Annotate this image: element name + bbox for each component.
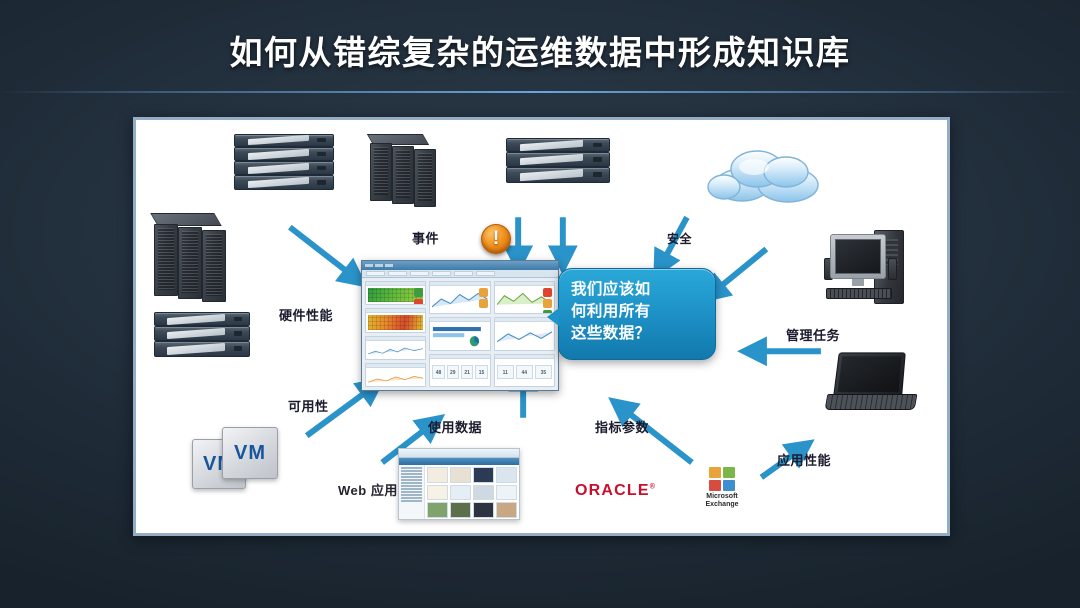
webapp-browser-chrome xyxy=(399,449,519,458)
exchange-logo-tiles xyxy=(709,467,735,491)
label-application-performance: 应用性能 xyxy=(777,450,831,469)
oracle-registered-mark: ® xyxy=(650,484,656,491)
speech-line-2: 何利用所有 xyxy=(571,301,705,323)
dashboard-titlebar xyxy=(362,261,558,270)
dashboard-card-area-chart xyxy=(429,281,490,314)
label-web-application: Web 应用 xyxy=(338,480,398,499)
webapp-content xyxy=(399,465,519,520)
network-switch-stack-left-lower xyxy=(154,312,250,358)
cloud-icon xyxy=(702,145,828,207)
webapp-sidebar xyxy=(399,465,425,520)
diagram-stage: ! xyxy=(136,120,947,533)
title-divider xyxy=(0,91,1080,93)
dashboard-card-heatmap xyxy=(365,281,426,305)
dashboard-card-dual-spark xyxy=(494,317,555,350)
microsoft-exchange-logo: Microsoft Exchange xyxy=(690,467,754,509)
oracle-logo: ORACLE® xyxy=(575,482,656,500)
label-hardware-performance: 硬件性能 xyxy=(279,305,333,324)
exchange-logo-line-2: Exchange xyxy=(690,501,754,509)
server-rack-left xyxy=(152,213,234,299)
label-availability: 可用性 xyxy=(288,396,329,415)
dashboard-card-kpis-left: 48292115 xyxy=(429,354,490,387)
label-management-tasks: 管理任务 xyxy=(786,325,840,344)
laptop-image xyxy=(826,352,918,412)
label-metrics: 指标参数 xyxy=(595,417,649,436)
vm-card-front: VM xyxy=(222,427,278,479)
label-events: 事件 xyxy=(412,228,439,247)
alert-icon: ! xyxy=(481,224,511,254)
dashboard-card-sparkline-orange xyxy=(365,363,426,387)
vm-cards-group: VM VM xyxy=(192,427,302,489)
speech-bubble: 我们应该如 何利用所有 这些数据？ xyxy=(558,268,716,360)
speech-bubble-wrap: 我们应该如 何利用所有 这些数据？ xyxy=(558,268,716,360)
network-switch-stack-center xyxy=(506,138,610,184)
dashboard-body: 48292115 xyxy=(362,278,558,390)
speech-line-1: 我们应该如 xyxy=(571,279,705,301)
speech-line-3: 这些数据？ xyxy=(571,323,705,345)
page-title: 如何从错综复杂的运维数据中形成知识库 xyxy=(0,26,1080,74)
label-security: 安全 xyxy=(667,230,692,247)
web-application-screenshot[interactable] xyxy=(398,448,520,520)
dashboard-card-area-green xyxy=(494,281,555,314)
webapp-navbar xyxy=(399,458,519,465)
server-rack-top xyxy=(368,134,440,204)
dashboard-card-kpis-right: 114435 xyxy=(494,354,555,387)
network-switch-stack-top xyxy=(234,134,334,190)
alert-exclamation-glyph: ! xyxy=(481,224,511,254)
dashboard-card-sparkline-blue xyxy=(365,336,426,360)
label-usage-data: 使用数据 xyxy=(428,417,482,436)
dashboard-tabs[interactable] xyxy=(362,270,558,278)
webapp-product-grid xyxy=(425,465,519,520)
exchange-logo-line-1: Microsoft xyxy=(690,493,754,501)
desktop-computer-image xyxy=(824,228,904,306)
dashboard-card-bar-and-pie xyxy=(429,317,490,350)
dashboard-card-heatmap-warm xyxy=(365,308,426,332)
oracle-logo-text: ORACLE xyxy=(575,482,650,499)
diagram-panel: ! xyxy=(133,117,950,536)
monitoring-dashboard-screenshot[interactable]: 48292115 xyxy=(361,260,559,391)
